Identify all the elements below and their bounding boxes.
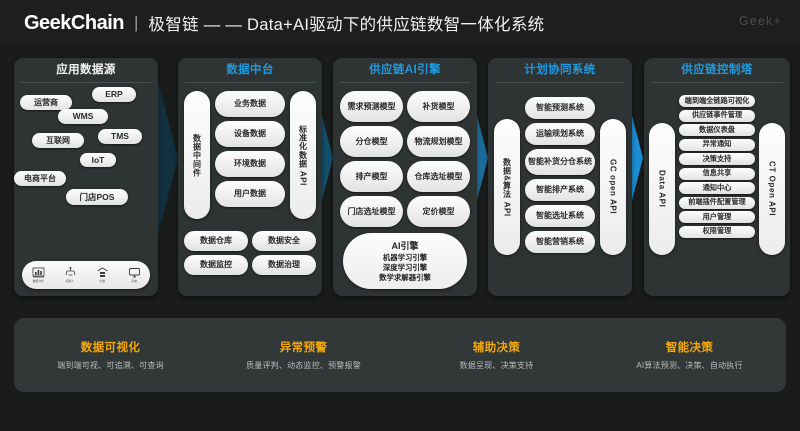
panel-app-data-source[interactable]: 应用数据源 运营商 ERP WMS 互联网 TMS IoT 电商平台 门店POS… [14, 58, 158, 296]
model-pill-production-schedule[interactable]: 排产模型 [340, 161, 403, 192]
value-sub-3: 数据呈现、决策支持 [400, 360, 593, 371]
feature-pill-notification-center[interactable]: 通知中心 [679, 182, 755, 194]
system-pill-marketing[interactable]: 智能营销系统 [525, 231, 595, 253]
value-heading-1: 数据可视化 [14, 339, 207, 355]
warehouse-icon-label: 仓储 [99, 279, 105, 284]
data-pill-environment[interactable]: 环境数据 [215, 151, 285, 177]
ai-engine-block[interactable]: AI引擎 机器学习引擎 深度学习引擎 数学求解器引擎 [343, 233, 467, 289]
panel-plan-collaboration-system[interactable]: 计划协同系统 数据&算法 API GC open API 智能预测系统 运输规划… [488, 58, 632, 296]
ai-engine-line-1: 机器学习引擎 [383, 253, 427, 263]
source-pill-store-pos[interactable]: 门店POS [66, 189, 128, 205]
robot-icon[interactable]: 机器人 [57, 267, 83, 284]
source-pill-wms[interactable]: WMS [58, 109, 108, 124]
panel-title-5: 供应链控制塔 [644, 58, 790, 82]
model-pill-demand-forecast[interactable]: 需求预测模型 [340, 91, 403, 122]
model-pill-store-site[interactable]: 门店选址模型 [340, 196, 403, 227]
data-pill-warehouse[interactable]: 数据仓库 [184, 231, 248, 251]
robot-icon-label: 机器人 [66, 279, 74, 284]
data-pill-business[interactable]: 业务数据 [215, 91, 285, 117]
feature-pill-exception-notice[interactable]: 异常通知 [679, 139, 755, 151]
system-pill-forecast[interactable]: 智能预测系统 [525, 97, 595, 119]
chart-icon[interactable]: 数据分析 [25, 267, 51, 284]
panel-title-4: 计划协同系统 [488, 58, 632, 82]
api-bar-data-algorithm[interactable]: 数据&算法 API [494, 119, 520, 255]
value-heading-4: 智能决策 [593, 339, 786, 355]
panel-title-1: 应用数据源 [14, 58, 158, 82]
value-item-data-visualization[interactable]: 数据可视化 端到端可视、可追溯、可查询 [14, 339, 207, 371]
panel-supply-chain-ai-engine[interactable]: 供应链AI引擎 需求预测模型 补货模型 分仓模型 物流规划模型 排产模型 仓库选… [333, 58, 477, 296]
source-pill-erp[interactable]: ERP [92, 87, 136, 102]
ai-engine-title: AI引擎 [391, 239, 418, 252]
data-pill-device[interactable]: 设备数据 [215, 121, 285, 147]
system-pill-replenish-split[interactable]: 智能补货分仓系统 [525, 149, 595, 175]
api-bar-gc-open-label: GC open API [609, 159, 618, 214]
feature-pill-visibility[interactable]: 端到端全链路可视化 [679, 95, 755, 107]
value-sub-1: 端到端可视、可追溯、可查询 [14, 360, 207, 371]
data-pill-monitoring[interactable]: 数据监控 [184, 255, 248, 275]
panel-title-2: 数据中台 [178, 58, 322, 82]
panel-body-5: Data API CT Open API 端到端全链路可视化 供应链事件管理 数… [644, 83, 790, 295]
header-divider: | [134, 13, 138, 33]
ai-engine-line-3: 数学求解器引擎 [379, 273, 431, 283]
slide-canvas: GeekChain | 极智链 — — Data+AI驱动下的供应链数智一体化系… [0, 0, 800, 431]
feature-pill-event-mgmt[interactable]: 供应链事件管理 [679, 110, 755, 122]
api-bar-gc-open[interactable]: GC open API [600, 119, 626, 255]
model-pill-warehouse-site[interactable]: 仓库选址模型 [407, 161, 470, 192]
value-item-intelligent-decision[interactable]: 智能决策 AI算法预测、决策、自动执行 [593, 339, 786, 371]
model-pill-pricing[interactable]: 定价模型 [407, 196, 470, 227]
api-bar-data-algorithm-label: 数据&算法 API [502, 158, 513, 217]
data-pill-user[interactable]: 用户数据 [215, 181, 285, 207]
api-bar-data-api-label: Data API [658, 170, 667, 207]
panel-body-2: 数据中间件 标准化数据 API 业务数据 设备数据 环境数据 用户数据 数据仓库… [178, 83, 322, 295]
api-bar-standard-data-label: 标准化数据 API [298, 125, 309, 186]
model-pill-logistics-plan[interactable]: 物流规划模型 [407, 126, 470, 157]
data-pill-security[interactable]: 数据安全 [252, 231, 316, 251]
system-pill-site-selection[interactable]: 智能选址系统 [525, 205, 595, 227]
system-pill-production[interactable]: 智能排产系统 [525, 179, 595, 201]
panel-body-3: 需求预测模型 补货模型 分仓模型 物流规划模型 排产模型 仓库选址模型 门店选址… [333, 83, 477, 295]
value-item-assisted-decision[interactable]: 辅助决策 数据呈现、决策支持 [400, 339, 593, 371]
value-heading-3: 辅助决策 [400, 339, 593, 355]
panel-data-middle-platform[interactable]: 数据中台 数据中间件 标准化数据 API 业务数据 设备数据 环境数据 用户数据… [178, 58, 322, 296]
header-bar: GeekChain | 极智链 — — Data+AI驱动下的供应链数智一体化系… [0, 0, 800, 46]
monitor-icon[interactable]: 系统 [121, 267, 147, 284]
source-pill-iot[interactable]: IoT [80, 153, 116, 167]
page-title: 极智链 — — Data+AI驱动下的供应链数智一体化系统 [148, 11, 544, 35]
api-bar-data-middleware-label: 数据中间件 [192, 134, 203, 177]
panel-body-4: 数据&算法 API GC open API 智能预测系统 运输规划系统 智能补货… [488, 83, 632, 295]
feature-pill-dashboard[interactable]: 数据仪表盘 [679, 124, 755, 136]
brand-logo: GeekChain [24, 12, 124, 35]
source-pill-internet[interactable]: 互联网 [32, 133, 84, 148]
api-bar-ct-open-label: CT Open API [768, 161, 777, 216]
source-pill-tms[interactable]: TMS [98, 129, 142, 144]
value-sub-4: AI算法预测、决策、自动执行 [593, 360, 786, 371]
source-pill-ecommerce[interactable]: 电商平台 [14, 171, 66, 186]
panel-title-3: 供应链AI引擎 [333, 58, 477, 82]
api-bar-standard-data[interactable]: 标准化数据 API [290, 91, 316, 219]
value-heading-2: 异常预警 [207, 339, 400, 355]
feature-pill-info-sharing[interactable]: 信息共享 [679, 168, 755, 180]
chart-icon-label: 数据分析 [32, 279, 43, 284]
source-pill-carrier[interactable]: 运营商 [20, 95, 72, 110]
api-bar-ct-open[interactable]: CT Open API [759, 123, 785, 255]
source-icon-bar[interactable]: 数据分析 机器人 仓储 系统 [22, 261, 150, 289]
monitor-icon-label: 系统 [131, 279, 137, 284]
data-pill-governance[interactable]: 数据治理 [252, 255, 316, 275]
feature-pill-user-mgmt[interactable]: 用户管理 [679, 211, 755, 223]
model-pill-warehouse-split[interactable]: 分仓模型 [340, 126, 403, 157]
feature-pill-permission-mgmt[interactable]: 权限管理 [679, 226, 755, 238]
panel-body-1: 运营商 ERP WMS 互联网 TMS IoT 电商平台 门店POS 数据分析 … [14, 83, 158, 295]
model-pill-replenishment[interactable]: 补货模型 [407, 91, 470, 122]
ai-engine-line-2: 深度学习引擎 [383, 263, 427, 273]
feature-pill-plugin-config[interactable]: 前端插件配置管理 [679, 197, 755, 209]
warehouse-icon[interactable]: 仓储 [89, 267, 115, 284]
geekplus-logo: Geek+ [739, 14, 782, 28]
value-sub-2: 质量评判、动态监控、预警报警 [207, 360, 400, 371]
value-item-exception-alert[interactable]: 异常预警 质量评判、动态监控、预警报警 [207, 339, 400, 371]
api-bar-data-middleware[interactable]: 数据中间件 [184, 91, 210, 219]
panel-supply-chain-control-tower[interactable]: 供应链控制塔 Data API CT Open API 端到端全链路可视化 供应… [644, 58, 790, 296]
value-band: 数据可视化 端到端可视、可追溯、可查询 异常预警 质量评判、动态监控、预警报警 … [14, 318, 786, 392]
feature-pill-decision-support[interactable]: 决策支持 [679, 153, 755, 165]
api-bar-data-api[interactable]: Data API [649, 123, 675, 255]
system-pill-transport-plan[interactable]: 运输规划系统 [525, 123, 595, 145]
